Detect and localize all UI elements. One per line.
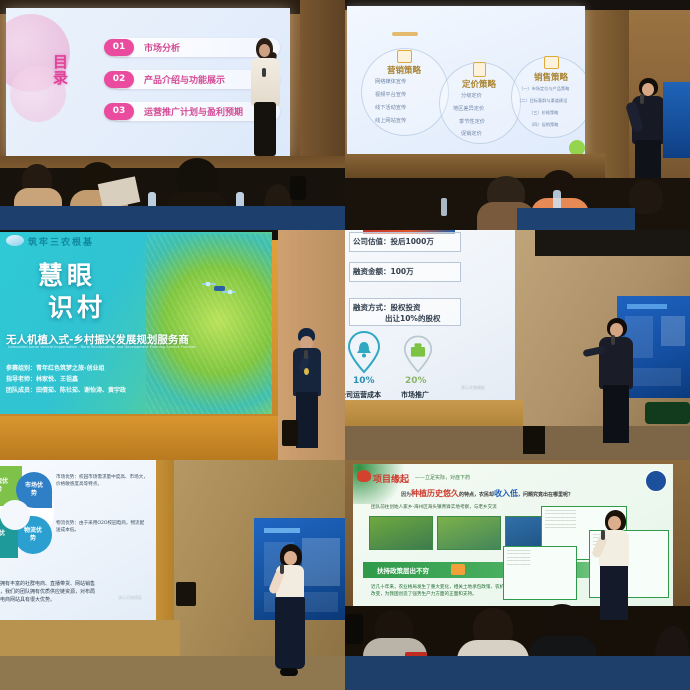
card-text: 一一一一一一一一一一一一一一一一一一一一一一一一一一一一一一一一一一一一一一一一…: [504, 547, 533, 570]
presenter-figure: [248, 38, 284, 156]
floor-speaker-box: [282, 420, 298, 446]
label-text: 公司估值：: [353, 237, 391, 246]
card-text: 一一一一一一一一一一一一一一一一一一一一一一一一一一一一一一一一一一一一一一一一…: [542, 507, 579, 533]
ring-center-hole: [0, 500, 30, 530]
circle-bullet: 分级定价: [461, 92, 482, 99]
slide-meta-line: 团队成员：田倩茹、陈社茹、谢怡涛、黄宇政: [6, 385, 126, 394]
drone-icon: [202, 280, 236, 293]
label-text: 融资方式：: [353, 303, 391, 312]
slide-watermark: 演示文稿模板: [461, 385, 485, 391]
agenda-number: 01: [104, 39, 134, 56]
briefcase-pin-icon: [403, 334, 437, 378]
slide-heading-sub: ——立足实际，对症下药: [415, 474, 470, 481]
projection-screen: 筑牢三农根基 慧眼 识村 无人机植入式-乡村振兴发展规划服务商 Unmanned…: [0, 232, 272, 414]
field-photo-thumbnail: [369, 516, 433, 550]
presenter-figure: [272, 544, 308, 684]
projection-screen: 学院优势 市场优势 物流优势 团队优势 市场优势：校园市场需求量中度高、市场大，…: [0, 460, 156, 620]
advantage-bullet: 物流优势：由于采用O2O校园电商，物流配送成本低。: [56, 520, 148, 534]
headline-prefix: 因为: [401, 492, 411, 498]
hall-floor: [345, 426, 690, 460]
panel-5-advantages-slide-photo: 学院优势 市场优势 物流优势 团队优势 市场优势：校园市场需求量中度高、市场大，…: [0, 460, 345, 690]
planter-decoration: [645, 402, 690, 424]
basket-icon: [397, 50, 412, 63]
side-tv-screen: [663, 82, 690, 158]
presenter-figure: [595, 510, 633, 620]
projection-screen: 公司估值：投后1000万 融资金额：100万 融资方式：股权投资 出让10%的股…: [345, 230, 515, 408]
allocation-label: 市场推广: [401, 390, 429, 400]
tag-icon: [473, 62, 486, 77]
agenda-label: 产品介绍与功能展示: [144, 73, 225, 86]
agenda-number: 03: [104, 103, 134, 120]
circle-bullet: 网络媒体宣传: [375, 78, 406, 85]
circle-bullet: （二）目标客群与渠道建设: [517, 98, 567, 104]
field-label-amount: 融资金额：100万: [353, 266, 414, 277]
wall-pillar: [583, 10, 629, 178]
label-text: 融资金额：: [353, 267, 391, 276]
panel-1-agenda-slide-photo: 目录 01 市场分析 02 产品介绍与功能展示 03 运营推广计划与盈利预期: [0, 0, 345, 230]
circle-heading: 销售策略: [527, 71, 575, 83]
value-text: 投后1000万: [391, 237, 434, 246]
field-label-method: 融资方式：股权投资: [353, 302, 421, 313]
logo-text: 筑牢三农根基: [28, 235, 94, 248]
field-photo-thumbnail: [437, 516, 501, 550]
circle-bullet: 线上网站宣传: [375, 117, 406, 124]
circle-bullet: （四）促销策略: [529, 122, 558, 128]
field-value-method-line2: 出让10%的股权: [385, 313, 440, 324]
agenda-side-title: 目录: [46, 54, 76, 86]
slide-title-line-1: 慧眼: [38, 256, 96, 292]
megaphone-icon: [451, 564, 465, 575]
note-icon: [544, 56, 559, 69]
circle-bullet: 线下活动宣传: [375, 104, 406, 111]
stage-floor: [0, 416, 278, 460]
bell-pin-icon: [347, 330, 381, 374]
circle-heading: 定价策略: [455, 78, 503, 90]
circle-bullet: 视频平台宣传: [375, 91, 406, 98]
grass-texture: [146, 234, 272, 414]
photo-montage-grid: 目录 01 市场分析 02 产品介绍与功能展示 03 运营推广计划与盈利预期: [0, 0, 690, 690]
value-text: 股权投资: [391, 303, 421, 312]
panel-4-financing-slide-photo: 公司估值：投后1000万 融资金额：100万 融资方式：股权投资 出让10%的股…: [345, 230, 690, 460]
slide-title-line-2: 识村: [48, 288, 106, 324]
panel-2-strategy-slide-photo: 营销策略 网络媒体宣传 视频平台宣传 线下活动宣传 线上网站宣传 定价策略 分级…: [345, 0, 690, 230]
agenda-number: 02: [104, 71, 134, 88]
agenda-label: 运营推广计划与盈利预期: [144, 105, 243, 118]
sub-line: 团队前往创始人家乡-海州区海头镇青锋实地考察，与老乡交流: [371, 504, 497, 510]
band-label: 扶持政策层出不穷: [377, 565, 429, 575]
agenda-label: 市场分析: [144, 41, 180, 54]
slide-heading: 项目缘起: [373, 472, 409, 485]
presenter-figure: [597, 318, 635, 450]
projection-screen: 营销策略 网络媒体宣传 视频平台宣传 线下活动宣传 线上网站宣传 定价策略 分级…: [347, 6, 585, 156]
headline-mid: 的特点，农民却: [459, 492, 494, 498]
segment-label: 市场优势: [25, 482, 43, 498]
circle-bullet: （三）价格策略: [529, 110, 558, 116]
text-card: 一一一一一一一一一一一一一一一一一一一一一一一一一一一一一一一一一一一一一一一一…: [503, 546, 577, 600]
panel-3-title-slide-photo: 筑牢三农根基 慧眼 识村 无人机植入式-乡村振兴发展规划服务商 Unmanned…: [0, 230, 345, 460]
flower-icon: [357, 470, 371, 482]
value-text: 100万: [391, 267, 414, 276]
audience-table: [0, 206, 345, 230]
advantage-bullet: 市场优势：校园市场需求量中度高、市场大，价格敏感度高等特点。: [56, 474, 148, 488]
organization-logo-icon: [6, 235, 24, 246]
headline-suffix: ，问题究竟出在哪里呢？: [518, 492, 573, 498]
floor-speaker-box: [523, 426, 545, 454]
field-label-valuation: 公司估值：投后1000万: [353, 236, 434, 247]
slide-subtitle-english: Unmanned Aerial Vehicle Implantation - R…: [8, 345, 196, 349]
allocation-percent: 10%: [353, 376, 375, 386]
circle-heading: 营销策略: [380, 64, 428, 76]
ceiling-shadow: [535, 230, 690, 256]
circle-bullet: （一）市场定位与产品策略: [519, 86, 569, 92]
headline-key-1: 种植历史悠久: [411, 489, 459, 498]
circle-bullet: 地区差异定价: [453, 105, 484, 112]
slide-meta-line: 指导老师：林家悦、王祖鑫: [6, 374, 78, 383]
allocation-percent: 20%: [405, 376, 427, 386]
circle-bullet: 促销定价: [461, 130, 482, 137]
headline-key-2: 收入低: [494, 489, 518, 498]
advantage-paragraph: 我们拥有丰富的社群电商、直播带货、网站销售经验，我们的团队拥有优质供应链资源，对…: [0, 580, 95, 604]
slide-meta-line: 参赛组别：青年红色筑梦之旅-创业组: [6, 363, 105, 372]
slide-header-ribbon: [392, 32, 418, 36]
circle-bullet: 季节性定价: [459, 118, 485, 125]
floor-speaker-box: [176, 582, 196, 606]
headline: 因为种植历史悠久的特点，农民却收入低，问题究竟出在哪里呢？: [401, 488, 573, 499]
segment-label: 物流优势: [24, 527, 42, 543]
segment-label: 团队优势: [0, 530, 5, 546]
panel-6-project-origin-slide-photo: 项目缘起 ——立足实际，对症下药 因为种植历史悠久的特点，农民却收入低，问题究竟…: [345, 460, 690, 690]
university-seal-icon: [645, 470, 667, 492]
audience-table: [517, 208, 635, 230]
slide-watermark: 演示文稿模板: [118, 595, 142, 601]
segment-label: 学院优势: [0, 478, 9, 494]
audience-table: [345, 656, 690, 690]
allocation-label: 公司运营成本: [345, 390, 381, 400]
